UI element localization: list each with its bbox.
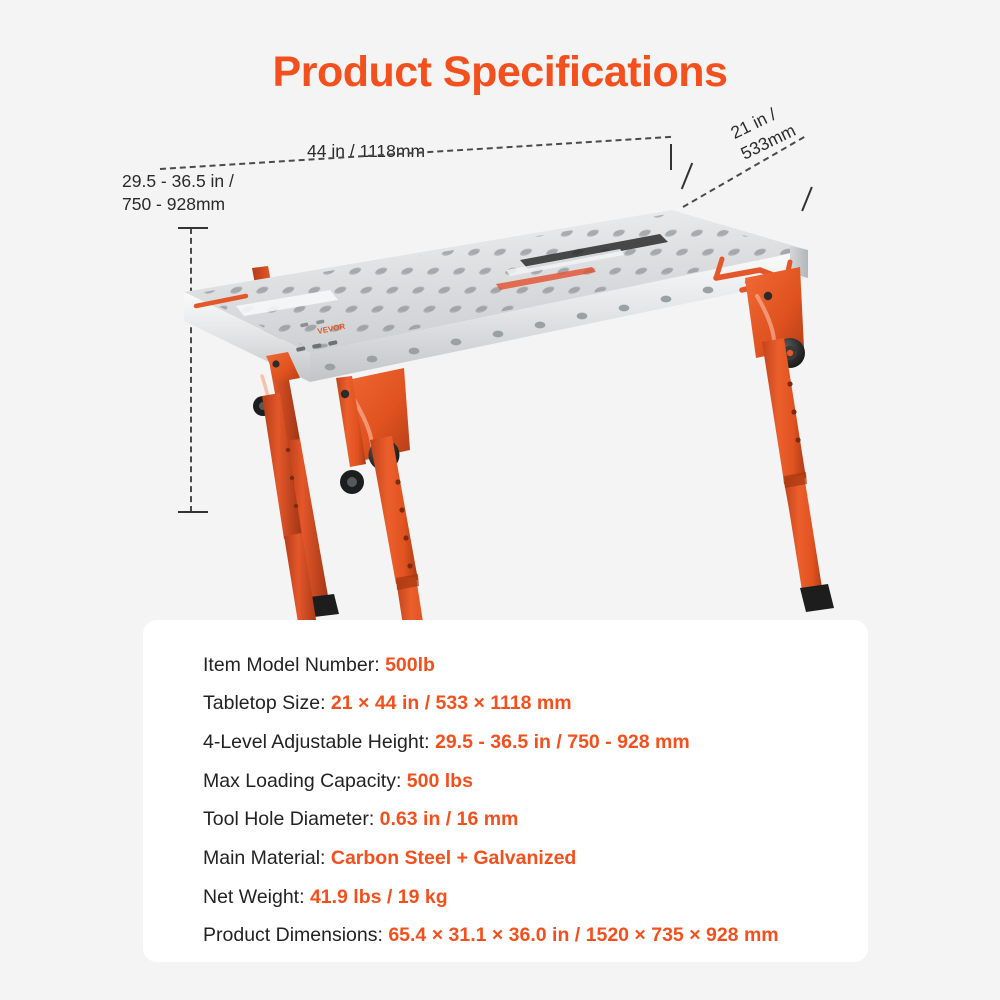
- spec-value: 500lb: [385, 654, 435, 676]
- spec-row-net-weight: Net Weight: 41.9 lbs / 19 kg: [203, 878, 848, 917]
- spec-row-main-material: Main Material: Carbon Steel + Galvanized: [203, 839, 848, 878]
- spec-row-item-model-number: Item Model Number: 500lb: [203, 646, 848, 685]
- spec-label: Net Weight:: [203, 886, 310, 908]
- spec-row-tool-hole-diameter: Tool Hole Diameter: 0.63 in / 16 mm: [203, 801, 848, 840]
- spec-label: Tabletop Size:: [203, 692, 331, 714]
- spec-row-max-loading-capacity: Max Loading Capacity: 500 lbs: [203, 762, 848, 801]
- spec-value: 29.5 - 36.5 in / 750 - 928 mm: [435, 731, 690, 753]
- specifications-list: Item Model Number: 500lb Tabletop Size: …: [203, 646, 848, 956]
- product-figure: 29.5 - 36.5 in / 750 - 928mm 44 in / 111…: [0, 110, 1000, 620]
- spec-label: Product Dimensions:: [203, 924, 388, 946]
- leg-foot-front-right: [800, 584, 834, 612]
- spec-row-adjustable-height: 4-Level Adjustable Height: 29.5 - 36.5 i…: [203, 723, 848, 762]
- spec-value: 0.63 in / 16 mm: [380, 808, 519, 830]
- spec-row-product-dimensions: Product Dimensions: 65.4 × 31.1 × 36.0 i…: [203, 917, 848, 956]
- spec-label: Main Material:: [203, 847, 331, 869]
- spec-label: Item Model Number:: [203, 654, 385, 676]
- workbench-illustration: VEVOR: [0, 110, 1000, 620]
- spec-value: 21 × 44 in / 533 × 1118 mm: [331, 692, 572, 714]
- spec-row-tabletop-size: Tabletop Size: 21 × 44 in / 533 × 1118 m…: [203, 685, 848, 724]
- specifications-card: Item Model Number: 500lb Tabletop Size: …: [143, 620, 868, 962]
- spec-value: 41.9 lbs / 19 kg: [310, 886, 448, 908]
- spec-value: Carbon Steel + Galvanized: [331, 847, 576, 869]
- spec-label: 4-Level Adjustable Height:: [203, 731, 435, 753]
- spec-label: Max Loading Capacity:: [203, 770, 407, 792]
- spec-label: Tool Hole Diameter:: [203, 808, 380, 830]
- spec-value: 500 lbs: [407, 770, 473, 792]
- spec-value: 65.4 × 31.1 × 36.0 in / 1520 × 735 × 928…: [388, 924, 778, 946]
- leg-front-left: [336, 368, 446, 620]
- page-title: Product Specifications: [0, 48, 1000, 97]
- leg-front-right: [745, 267, 834, 612]
